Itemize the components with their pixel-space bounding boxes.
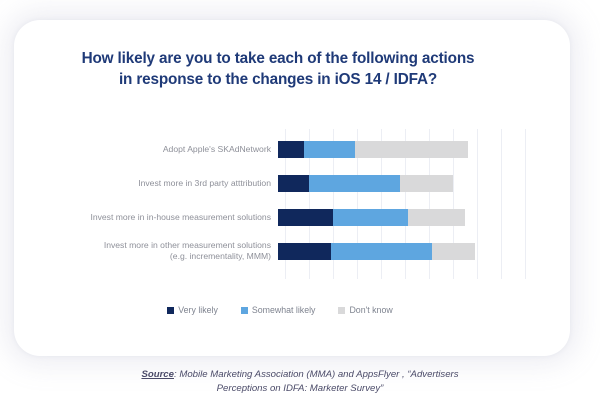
- category-label: Invest more in 3rd party atttribution: [30, 178, 278, 189]
- bar-row: Invest more in other measurement solutio…: [30, 235, 530, 267]
- category-label-line: Invest more in in-house measurement solu…: [30, 212, 271, 223]
- bar-segment-somewhat-likely: [304, 141, 354, 158]
- bar-segment-very-likely: [278, 209, 333, 226]
- bar-segment-somewhat-likely: [331, 243, 432, 260]
- legend-label: Don't know: [349, 305, 392, 315]
- source-label: Source: [141, 369, 174, 380]
- bar-track: [278, 209, 530, 226]
- chart-plot-area: Adopt Apple's SKAdNetwork Invest more in…: [30, 115, 530, 280]
- bar-segment-very-likely: [278, 175, 309, 192]
- category-label-line: Invest more in other measurement solutio…: [30, 240, 271, 251]
- chart-title-line-1: How likely are you to take each of the f…: [28, 48, 528, 69]
- bar-track: [278, 141, 530, 158]
- bar-segment-dont-know: [400, 175, 453, 192]
- bar-segment-dont-know: [432, 243, 475, 260]
- category-label: Invest more in in-house measurement solu…: [30, 212, 278, 223]
- legend-item-very-likely: Very likely: [167, 305, 218, 315]
- legend-label: Very likely: [178, 305, 218, 315]
- category-label: Adopt Apple's SKAdNetwork: [30, 144, 278, 155]
- category-label-line: (e.g. incrementality, MMM): [30, 251, 271, 262]
- bar-segment-dont-know: [355, 141, 468, 158]
- bar-track: [278, 175, 530, 192]
- legend-item-somewhat-likely: Somewhat likely: [241, 305, 316, 315]
- bar-segment-somewhat-likely: [309, 175, 400, 192]
- category-label-line: Invest more in 3rd party atttribution: [30, 178, 271, 189]
- bar-segment-dont-know: [408, 209, 466, 226]
- legend-item-dont-know: Don't know: [338, 305, 392, 315]
- legend-swatch-icon: [338, 307, 345, 314]
- source-text-line-2: Perceptions on IDFA: Marketer Survey”: [60, 382, 540, 396]
- bar-segment-very-likely: [278, 141, 304, 158]
- legend-swatch-icon: [241, 307, 248, 314]
- chart-title: How likely are you to take each of the f…: [28, 48, 528, 90]
- legend-swatch-icon: [167, 307, 174, 314]
- bar-segment-very-likely: [278, 243, 331, 260]
- source-note: Source: Mobile Marketing Association (MM…: [60, 368, 540, 396]
- bar-track: [278, 243, 530, 260]
- category-label: Invest more in other measurement solutio…: [30, 240, 278, 262]
- bar-segment-somewhat-likely: [333, 209, 407, 226]
- source-text-line-1: Mobile Marketing Association (MMA) and A…: [179, 369, 458, 380]
- chart-legend: Very likely Somewhat likely Don't know: [30, 305, 530, 315]
- bar-row: Adopt Apple's SKAdNetwork: [30, 133, 530, 165]
- chart-title-line-2: in response to the changes in iOS 14 / I…: [28, 69, 528, 90]
- source-note-line-1: Source: Mobile Marketing Association (MM…: [60, 368, 540, 382]
- category-label-line: Adopt Apple's SKAdNetwork: [30, 144, 271, 155]
- bar-row: Invest more in in-house measurement solu…: [30, 201, 530, 233]
- legend-label: Somewhat likely: [252, 305, 316, 315]
- bar-row: Invest more in 3rd party atttribution: [30, 167, 530, 199]
